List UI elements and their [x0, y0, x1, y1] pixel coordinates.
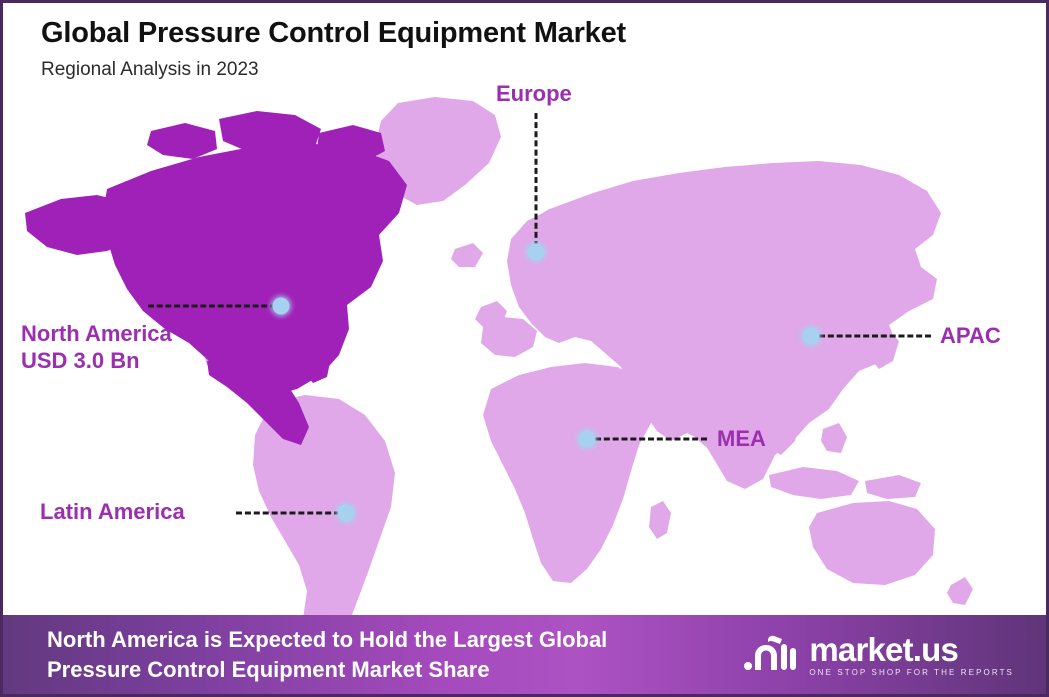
- region-label-north-america-value: USD 3.0 Bn: [21, 348, 172, 375]
- region-label-apac: APAC: [940, 323, 1001, 350]
- region-label-europe: Europe: [496, 81, 572, 108]
- leader-line-europe: [535, 113, 538, 247]
- region-label-latin-america-name: Latin America: [40, 499, 185, 524]
- banner-headline-line2: Pressure Control Equipment Market Share: [47, 655, 607, 684]
- region-label-apac-name: APAC: [940, 323, 1001, 348]
- australia-shape: [809, 501, 935, 585]
- iceland-shape: [451, 243, 483, 267]
- leader-line-north-america: [148, 305, 276, 308]
- indonesia-shape: [769, 467, 859, 499]
- marker-mea: [579, 431, 596, 448]
- logo-text-block: market.us ONE STOP SHOP FOR THE REPORTS: [809, 633, 1014, 677]
- philippines-shape: [821, 423, 847, 453]
- arctic-islands-3-shape: [147, 123, 217, 159]
- logo-wordmark: market.us: [809, 633, 958, 666]
- marker-apac: [803, 328, 820, 345]
- infographic-page: Global Pressure Control Equipment Market…: [0, 0, 1049, 697]
- region-label-latin-america: Latin America: [40, 499, 185, 526]
- region-label-north-america: North America USD 3.0 Bn: [21, 321, 172, 375]
- region-label-mea: MEA: [717, 426, 766, 453]
- bottom-banner: North America is Expected to Hold the La…: [3, 615, 1046, 694]
- logo-tagline: ONE STOP SHOP FOR THE REPORTS: [809, 669, 1014, 677]
- marker-europe: [528, 244, 545, 261]
- leader-line-latin-america: [236, 512, 340, 515]
- marker-latin-america: [338, 505, 355, 522]
- arctic-islands-shape: [219, 111, 321, 155]
- new-guinea-shape: [865, 475, 921, 499]
- marker-north-america: [273, 298, 290, 315]
- leader-line-mea: [595, 438, 707, 441]
- region-label-europe-name: Europe: [496, 81, 572, 106]
- region-label-north-america-name: North America: [21, 321, 172, 346]
- banner-headline-line1: North America is Expected to Hold the La…: [47, 627, 607, 652]
- page-title: Global Pressure Control Equipment Market: [41, 17, 1046, 50]
- leader-line-apac: [819, 335, 931, 338]
- market-us-logo[interactable]: market.us ONE STOP SHOP FOR THE REPORTS: [741, 633, 1024, 677]
- madagascar-shape: [649, 501, 671, 539]
- region-label-mea-name: MEA: [717, 426, 766, 451]
- market-us-logo-icon: [741, 634, 797, 676]
- page-subtitle: Regional Analysis in 2023: [41, 59, 1046, 81]
- new-zealand-shape: [947, 577, 973, 605]
- header: Global Pressure Control Equipment Market…: [3, 3, 1046, 81]
- banner-headline: North America is Expected to Hold the La…: [47, 625, 607, 683]
- map-highlight-north-america: [25, 111, 407, 445]
